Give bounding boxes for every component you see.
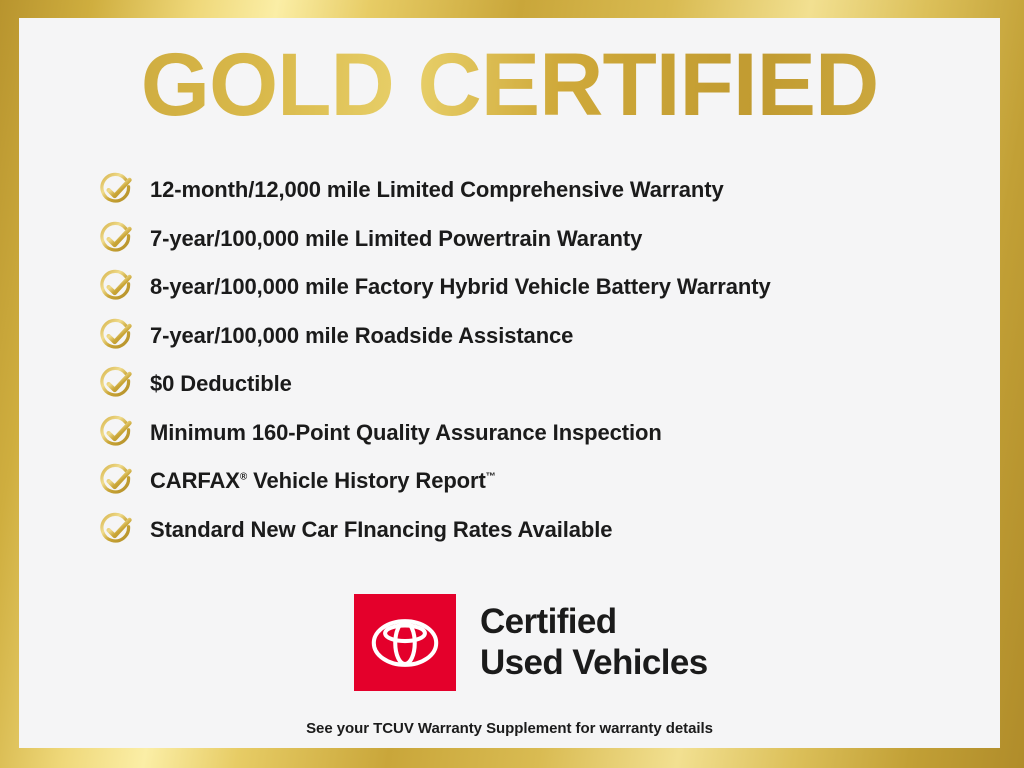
toyota-wordmark: Certified Used Vehicles: [480, 602, 708, 683]
list-item-label: 12-month/12,000 mile Limited Comprehensi…: [150, 179, 724, 201]
wordmark-line-1: Certified: [480, 602, 708, 643]
list-item-label: 8-year/100,000 mile Factory Hybrid Vehic…: [150, 276, 771, 298]
warranty-disclaimer: See your TCUV Warranty Supplement for wa…: [19, 720, 1000, 737]
page-title: GOLD CERTIFIED: [19, 40, 1000, 129]
list-item: 12-month/12,000 mile Limited Comprehensi…: [97, 166, 980, 215]
check-circle-icon: [97, 171, 135, 209]
list-item: $0 Deductible: [97, 360, 980, 409]
list-item: Minimum 160-Point Quality Assurance Insp…: [97, 409, 980, 458]
gold-certified-certificate: GOLD CERTIFIED: [0, 0, 1024, 768]
check-circle-icon: [97, 365, 135, 403]
wordmark-line-2: Used Vehicles: [480, 643, 708, 684]
list-item: 7-year/100,000 mile Roadside Assistance: [97, 312, 980, 361]
check-circle-icon: [97, 268, 135, 306]
benefits-list: 12-month/12,000 mile Limited Comprehensi…: [97, 166, 980, 554]
list-item-label: Standard New Car FInancing Rates Availab…: [150, 519, 612, 541]
check-circle-icon: [97, 317, 135, 355]
check-circle-icon: [97, 511, 135, 549]
carfax-brand: CARFAX: [150, 468, 240, 493]
list-item-label: 7-year/100,000 mile Limited Powertrain W…: [150, 228, 642, 250]
list-item-label: Minimum 160-Point Quality Assurance Insp…: [150, 422, 662, 444]
list-item: Standard New Car FInancing Rates Availab…: [97, 506, 980, 555]
check-circle-icon: [97, 220, 135, 258]
toyota-certified-used-vehicles-logo: Certified Used Vehicles: [354, 594, 708, 691]
list-item: CARFAX® Vehicle History Report™: [97, 457, 980, 506]
list-item-label: $0 Deductible: [150, 373, 292, 395]
check-circle-icon: [97, 414, 135, 452]
list-item-label: 7-year/100,000 mile Roadside Assistance: [150, 325, 573, 347]
check-circle-icon: [97, 462, 135, 500]
list-item: 8-year/100,000 mile Factory Hybrid Vehic…: [97, 263, 980, 312]
toyota-emblem-icon: [354, 594, 456, 691]
certificate-panel: GOLD CERTIFIED: [19, 18, 1000, 748]
carfax-report-label: Vehicle History Report: [247, 468, 486, 493]
trademark-mark: ™: [486, 472, 496, 483]
list-item: 7-year/100,000 mile Limited Powertrain W…: [97, 215, 980, 264]
list-item-label-carfax: CARFAX® Vehicle History Report™: [150, 470, 496, 492]
